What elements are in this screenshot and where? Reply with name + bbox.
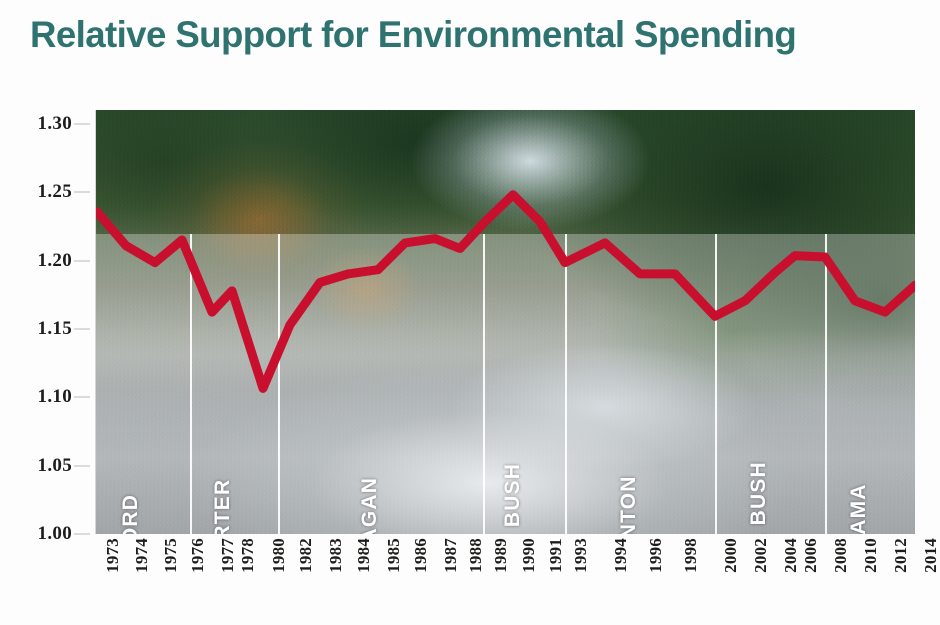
x-axis-tick-label: 1989: [491, 538, 511, 573]
y-axis-tick-mark: [74, 397, 90, 398]
x-axis-tick-label: 1984: [354, 538, 374, 573]
y-axis-tick-mark: [74, 261, 90, 262]
y-axis-tick-label: 1.20: [38, 250, 72, 272]
x-axis-tick-label: 1993: [571, 538, 591, 573]
y-axis-tick-mark: [74, 534, 90, 535]
x-axis-tick-label: 1987: [441, 538, 461, 573]
y-axis-tick-label: 1.05: [38, 455, 72, 477]
x-axis-tick-label: 1991: [546, 538, 566, 573]
x-axis-tick-label: 2002: [751, 538, 771, 573]
x-axis-tick-label: 1982: [296, 538, 316, 573]
chart-root: Relative Support for Environmental Spend…: [0, 0, 940, 625]
y-axis-tick-label: 1.15: [38, 318, 72, 340]
y-axis: 1.301.251.201.151.101.051.00: [0, 110, 96, 534]
x-axis-tick-label: 1996: [646, 538, 666, 573]
x-axis-tick-label: 1974: [132, 538, 152, 573]
x-axis-tick-label: 1985: [384, 538, 404, 573]
x-axis-tick-label: 1983: [326, 538, 346, 573]
y-axis-tick-label: 1.30: [38, 113, 72, 135]
x-axis-tick-label: 1977: [218, 538, 238, 573]
y-axis-tick-label: 1.25: [38, 181, 72, 203]
x-axis-tick-label: 1986: [411, 538, 431, 573]
x-axis-tick-label: 1976: [188, 538, 208, 573]
y-axis-tick-label: 1.10: [38, 386, 72, 408]
x-axis-tick-label: 1978: [238, 538, 258, 573]
x-axis-tick-label: 2010: [861, 538, 881, 573]
x-axis-tick-label: 1988: [466, 538, 486, 573]
x-axis: 1973197419751976197719781980198219831984…: [0, 538, 940, 618]
x-axis-tick-label: 1994: [611, 538, 631, 573]
x-axis-tick-label: 2004: [781, 538, 801, 573]
y-axis-tick-mark: [74, 329, 90, 330]
y-axis-tick-mark: [74, 124, 90, 125]
x-axis-tick-label: 2000: [721, 538, 741, 573]
x-axis-tick-label: 1980: [269, 538, 289, 573]
support-line-series: [96, 110, 915, 534]
y-axis-tick-mark: [74, 466, 90, 467]
x-axis-tick-label: 1975: [161, 538, 181, 573]
x-axis-tick-label: 2014: [921, 538, 940, 573]
x-axis-tick-label: 2006: [801, 538, 821, 573]
x-axis-tick-label: 1973: [103, 538, 123, 573]
y-axis-tick-mark: [74, 192, 90, 193]
x-axis-tick-label: 2012: [891, 538, 911, 573]
plot-area: FORDCARTERREAGANG. H. BUSHCLINTONG. W. B…: [96, 110, 915, 534]
x-axis-tick-label: 1990: [519, 538, 539, 573]
page-title: Relative Support for Environmental Spend…: [30, 14, 921, 56]
x-axis-tick-label: 2008: [831, 538, 851, 573]
x-axis-tick-label: 1998: [681, 538, 701, 573]
